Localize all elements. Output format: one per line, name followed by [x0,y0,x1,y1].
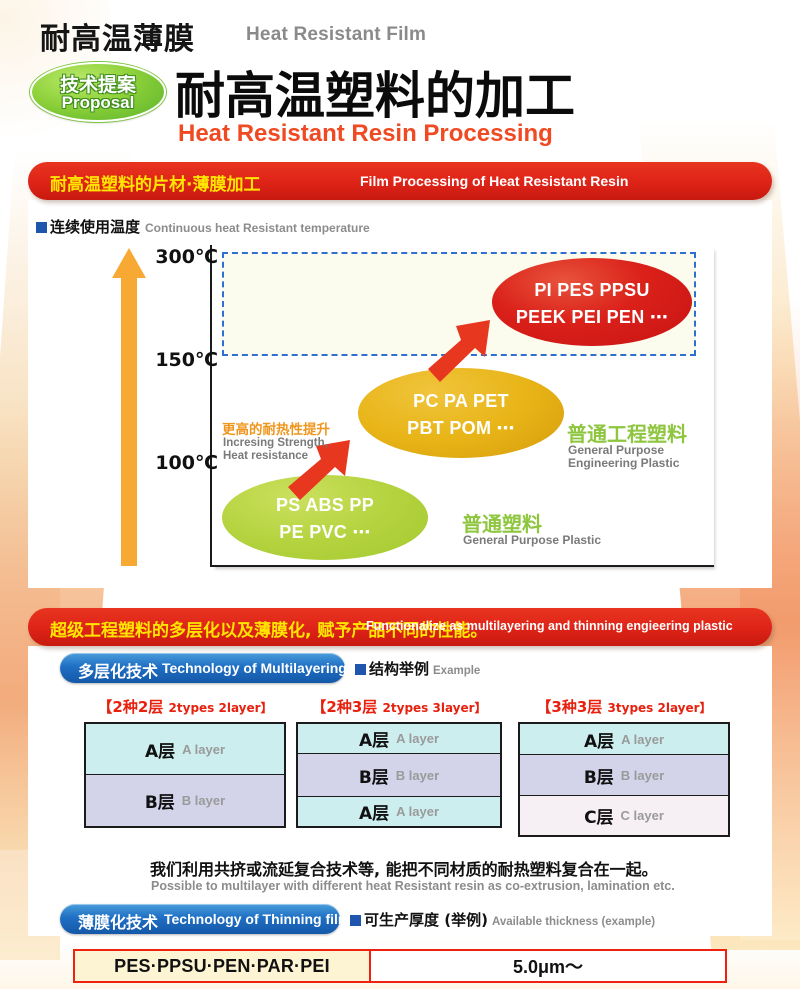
page-title: 耐高温塑料的加工 [175,56,575,128]
bubble-materials-line1-geng: PC PA PET [358,391,564,412]
chart-bubble-super-engineering: PI PES PPSU PEEK PEI PEN ⋯ [492,258,692,346]
layer-row: A层 A layer [86,724,284,775]
available-thickness-en: Available thickness (example) [492,916,655,928]
header-title-cn: 耐高温薄膜 [40,14,195,58]
layer-group-caption-1-cn: 【2种2层 [97,698,163,716]
layer-row: B层 B layer [86,775,284,826]
blue-square-bullet-icon [355,664,366,675]
layer-stack-1: A层 A layer B层 B layer [84,722,286,828]
layer-group-2types-3layer: 【2种3层 2types 3layer】 A层 A layer B层 B lay… [296,696,502,828]
blue-square-bullet-icon [36,222,47,233]
axis-tick-150: 150℃ [148,349,218,371]
layer-row: A层 A layer [520,724,728,755]
thickness-table-materials-cell: PES·PPSU·PEN·PAR·PEI [75,951,371,981]
temperature-axis-arrow-icon [112,248,146,566]
low-annotation-en-line2: Heat resistance [223,450,308,462]
upgrade-arrow-high-icon [428,320,502,382]
pill-multilayering-cn: 多层化技术 [78,658,158,682]
layer-group-caption-1-en: 2types 2layer】 [169,701,273,715]
layer-stack-2: A层 A layer B层 B layer A层 A layer [296,722,502,828]
axis-tick-100: 100℃ [148,452,218,474]
layer-group-3types-3layer: 【3种3层 3types 2layer】 A层 A layer B层 B lay… [518,696,730,837]
layer-label-cn: A层 [359,799,389,824]
multilayer-caption-en: Possible to multilayer with different he… [151,879,675,893]
layer-label-en: A layer [396,731,439,746]
general-engineering-label-en-line1: General Purpose [568,443,664,457]
layer-label-en: A layer [621,732,664,747]
multilayer-caption-cn: 我们利用共挤或流延复合技术等, 能把不同材质的耐热塑料复合在一起。 [150,856,658,880]
pill-multilayering-en: Technology of Multilayering [162,660,347,676]
chart-heading: 连续使用温度Continuous heat Resistant temperat… [36,216,370,237]
general-plastic-label-en: General Purpose Plastic [463,533,601,547]
layer-label-cn: C层 [584,803,613,828]
layer-row: B层 B layer [520,755,728,796]
thickness-table: PES·PPSU·PEN·PAR·PEI 5.0μm〜 [73,949,727,983]
structure-example-en: Example [433,665,480,677]
structure-example-heading: 结构举例Example [355,658,480,679]
banner2-label-en: Functionalize as multilayering and thinn… [366,619,733,633]
banner1-label-en: Film Processing of Heat Resistant Resin [360,173,628,189]
layer-label-cn: A层 [145,737,175,762]
section-banner-multilayering: 超级工程塑料的多层化以及薄膜化, 赋予产品不同的性能。 Functionaliz… [28,608,772,646]
low-annotation-en-line1: Incresing Strength, [223,437,328,449]
bubble-materials-line2-geng: PBT POM ⋯ [358,418,564,439]
chart-heading-en: Continuous heat Resistant temperature [145,221,370,235]
layer-label-en: A layer [396,804,439,819]
layer-label-en: B layer [182,793,225,808]
layer-row: C层 C layer [520,796,728,835]
layer-group-caption-3-en: 3types 2layer】 [608,701,712,715]
layer-row: A层 A layer [298,724,500,754]
layer-group-2types-2layer: 【2种2层 2types 2layer】 A层 A layer B层 B lay… [84,696,286,828]
pill-technology-of-thinning-film[interactable]: 薄膜化技术 Technology of Thinning film [60,904,340,934]
layer-stack-3: A层 A layer B层 B layer C层 C layer [518,722,730,837]
pill-thinning-en: Technology of Thinning film [164,911,350,927]
structure-example-cn: 结构举例 [369,660,429,678]
available-thickness-cn: 可生产厚度 (举例) [364,911,488,929]
layer-group-caption-2-en: 2types 3layer】 [383,701,487,715]
layer-row: A层 A layer [298,797,500,826]
blue-square-bullet-icon [350,915,361,926]
layer-label-cn: A层 [584,727,614,752]
layer-group-caption-2-cn: 【2种3层 [311,698,377,716]
pill-technology-of-multilayering[interactable]: 多层化技术 Technology of Multilayering [60,653,345,683]
pill-thinning-cn: 薄膜化技术 [78,909,158,933]
layer-group-caption-3-cn: 【3种3层 [536,698,602,716]
layer-label-cn: B层 [145,788,175,813]
layer-label-cn: B层 [359,763,389,788]
section-banner-film-processing: 耐高温塑料的片材·薄膜加工 Film Processing of Heat Re… [28,162,772,200]
page-header: 耐高温薄膜 Heat Resistant Film 技术提案 Proposal … [0,0,800,152]
thickness-value: 5.0μm〜 [513,953,583,979]
layer-row: B层 B layer [298,754,500,797]
layer-label-en: B layer [621,768,664,783]
bubble-materials-line1-super: PI PES PPSU [492,280,692,301]
layer-group-caption-2: 【2种3层 2types 3layer】 [296,696,502,717]
page-subtitle: Heat Resistant Resin Processing [178,120,553,148]
thickness-materials-value: PES·PPSU·PEN·PAR·PEI [114,956,330,977]
header-title-en: Heat Resistant Film [246,24,426,46]
banner1-label-cn: 耐高温塑料的片材·薄膜加工 [50,170,260,195]
axis-tick-300: 300℃ [148,246,218,268]
bubble-materials-line2-gp: PE PVC ⋯ [222,522,428,543]
layer-label-cn: B层 [584,763,614,788]
bubble-materials-line2-super: PEEK PEI PEN ⋯ [492,307,692,328]
layer-label-en: C layer [621,808,664,823]
low-annotation-cn: 更高的耐热性提升 [222,418,330,438]
general-engineering-label-en-line2: Engineering Plastic [568,456,679,470]
thickness-table-value-cell: 5.0μm〜 [371,951,725,981]
layer-label-cn: A层 [359,726,389,751]
layer-label-en: B layer [396,768,439,783]
available-thickness-heading: 可生产厚度 (举例)Available thickness (example) [350,909,655,930]
layer-group-caption-1: 【2种2层 2types 2layer】 [84,696,286,717]
upgrade-arrow-low-icon [288,440,362,500]
chart-heading-cn: 连续使用温度 [50,218,140,236]
layer-group-caption-3: 【3种3层 3types 2layer】 [518,696,730,717]
proposal-badge-label-en: Proposal [32,93,164,113]
proposal-badge: 技术提案 Proposal [30,62,166,122]
layer-label-en: A layer [182,742,225,757]
